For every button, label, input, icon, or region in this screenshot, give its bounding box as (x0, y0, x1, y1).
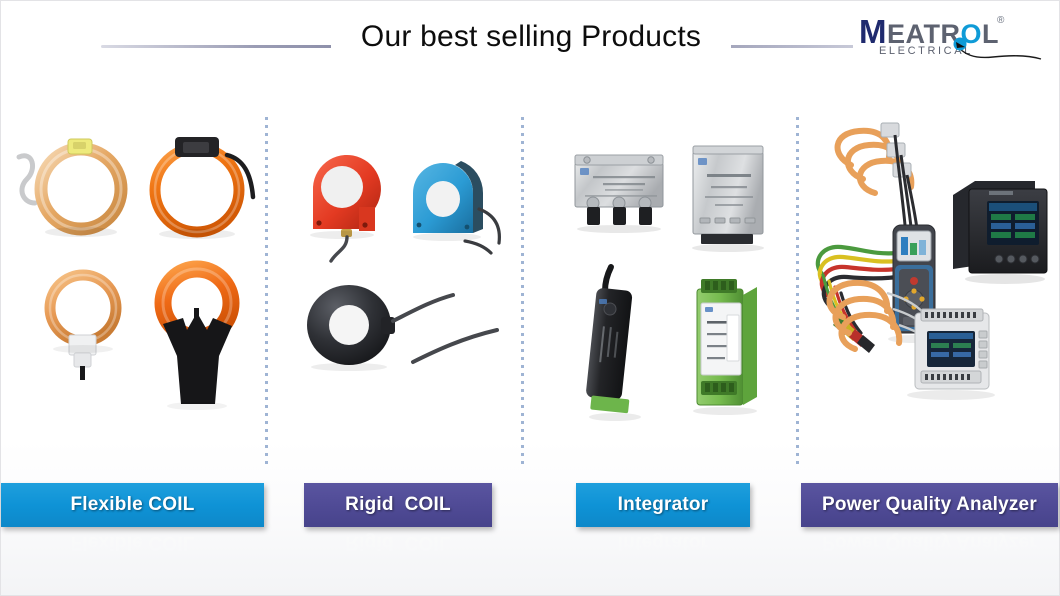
product-rogowski-coil-small-white-clip (29, 263, 139, 378)
registered-trademark-icon: ® (997, 15, 1004, 26)
category-banner-power-quality-analyzer[interactable]: Power Quality Analyzer (801, 483, 1058, 527)
product-column-power-quality-analyzer (809, 113, 1057, 463)
product-column-integrator (561, 113, 791, 463)
category-banner-flexible-coil[interactable]: Flexible COIL (1, 483, 264, 527)
banner-reflection-rigid-coil: Rigid COIL (304, 527, 492, 553)
product-din-rail-meter-with-coils (817, 273, 997, 408)
category-banner-rigid-coil[interactable]: Rigid COIL (304, 483, 492, 527)
product-column-rigid-coil (291, 113, 516, 463)
product-rogowski-coil-orange-black-clip (139, 133, 267, 248)
product-solid-core-ct-blue (403, 151, 515, 271)
product-integrator-green-din-rail (679, 271, 775, 421)
category-banner-integrator[interactable]: Integrator (576, 483, 750, 527)
banner-reflection-integrator: Integrator (576, 527, 750, 553)
logo-swoosh-icon (953, 37, 1043, 63)
product-integrator-silver-3channel (569, 143, 675, 253)
product-rogowski-coil-beige-yellow-clip (11, 133, 141, 248)
product-rogowski-coil-large-black-connector (135, 256, 265, 406)
slide-canvas: Our best selling Products MEATROL ® ELEC… (0, 0, 1060, 596)
product-split-core-ct-red (297, 143, 407, 268)
product-toroidal-ct-cable-tail (411, 328, 521, 368)
product-integrator-silver-panel (683, 138, 779, 258)
banner-reflection-power-quality-analyzer: Power Quality Analyzer (801, 527, 1058, 553)
product-integrator-black-inline (577, 265, 663, 425)
column-divider-3 (796, 117, 799, 467)
product-column-flexible-coil (9, 113, 259, 463)
brand-logo: MEATROL ® ELECTRICAL (853, 15, 1043, 67)
column-divider-2 (521, 117, 524, 467)
banner-reflection-flexible-coil: Flexible COIL (1, 527, 264, 553)
